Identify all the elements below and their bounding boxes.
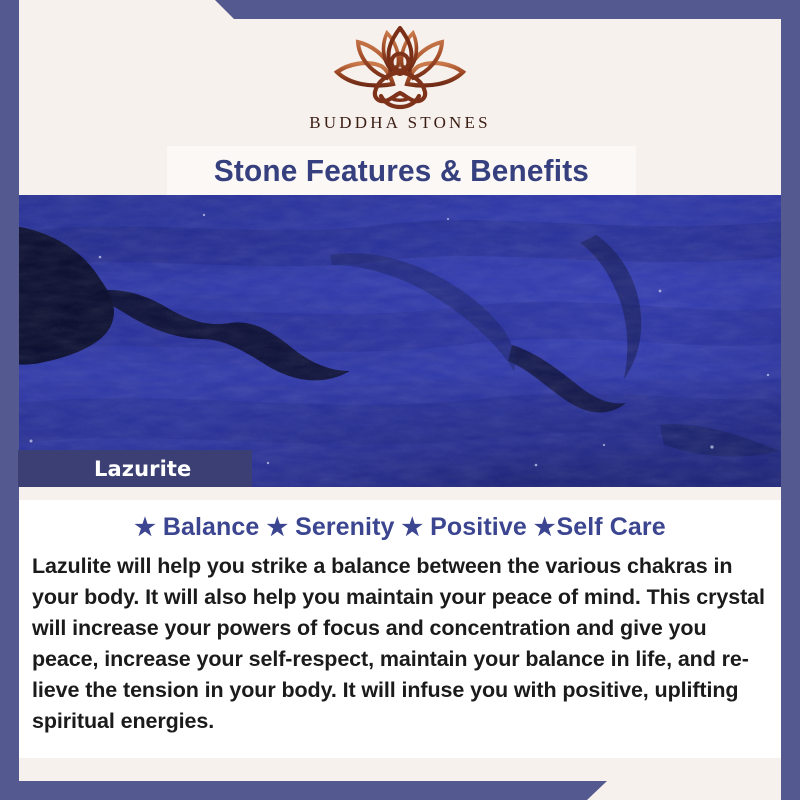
- description-text: Lazulite will help you strike a balance …: [32, 551, 768, 737]
- title-banner: Stone Features & Benefits: [167, 146, 636, 195]
- star-icon-3: ★: [402, 514, 424, 541]
- feature-label-2: Serenity: [295, 513, 394, 541]
- panel-top-strip: [19, 487, 781, 500]
- stone-name-badge: Lazurite: [18, 450, 252, 487]
- lazurite-texture-image: [0, 195, 800, 487]
- brand-name: BUDDHA STONES: [309, 113, 491, 133]
- page-title: Stone Features & Benefits: [214, 153, 589, 189]
- stone-photo: [0, 195, 800, 487]
- feature-label-1: Balance: [163, 513, 260, 541]
- feature-label-3: Positive: [430, 513, 527, 541]
- bottom-cream-strip: [19, 758, 781, 782]
- stone-benefits-poster: BUDDHA STONES Stone Features & Benefits: [0, 0, 800, 800]
- star-icon-4: ★: [534, 514, 556, 541]
- frame-top-bar: [0, 0, 800, 19]
- description-panel: ★Balance★Serenity★Positive★Self Care Laz…: [19, 487, 781, 758]
- stone-name-label: Lazurite: [94, 457, 191, 481]
- lotus-meditation-icon: [315, 22, 485, 110]
- feature-label-4: Self Care: [556, 513, 665, 541]
- features-list: ★Balance★Serenity★Positive★Self Care: [19, 513, 781, 542]
- star-icon-2: ★: [266, 514, 288, 541]
- frame-bottom-bar: [0, 781, 800, 800]
- brand-logo: BUDDHA STONES: [0, 22, 800, 133]
- star-icon-1: ★: [134, 514, 156, 541]
